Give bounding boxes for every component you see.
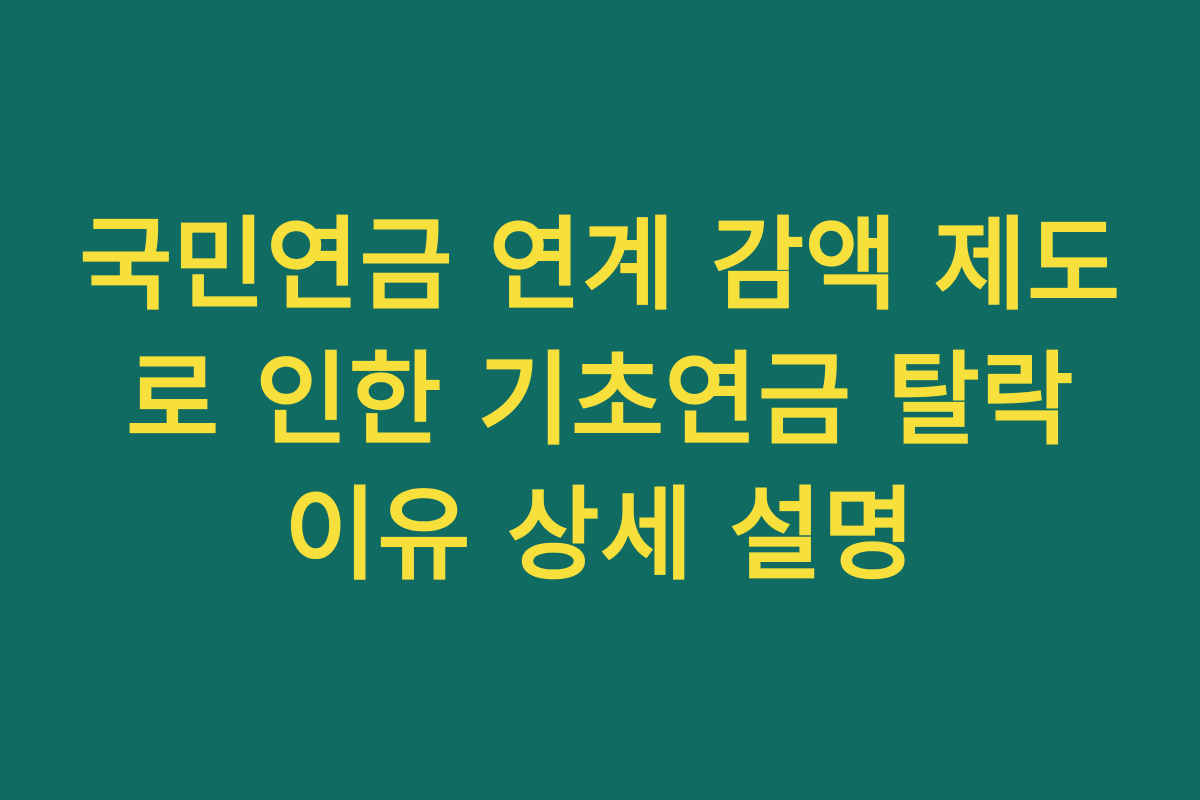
- headline-block: 국민연금 연계 감액 제도 로 인한 기초연금 탈락 이유 상세 설명: [70, 198, 1130, 603]
- headline-line-1: 국민연금 연계 감액 제도: [70, 198, 1130, 333]
- headline-line-2: 로 인한 기초연금 탈락: [70, 333, 1130, 468]
- headline-line-3: 이유 상세 설명: [70, 468, 1130, 603]
- thumbnail-canvas: 국민연금 연계 감액 제도 로 인한 기초연금 탈락 이유 상세 설명: [0, 0, 1200, 800]
